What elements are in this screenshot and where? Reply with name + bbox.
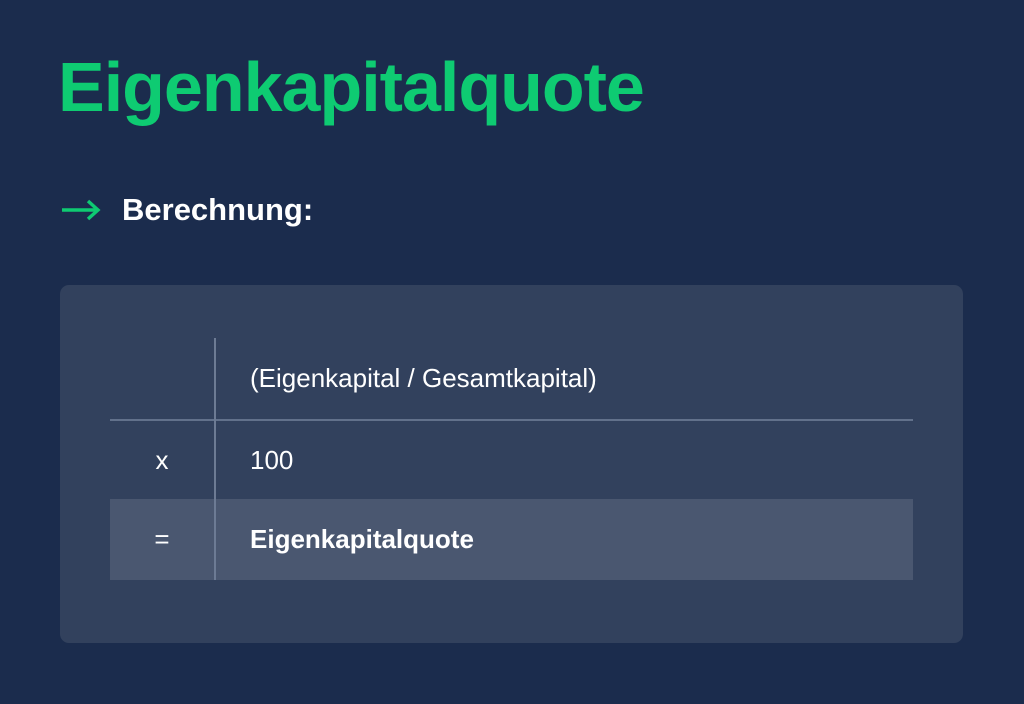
subtitle-label: Berechnung: bbox=[122, 192, 313, 228]
formula-card: (Eigenkapital / Gesamtkapital) x 100 = E… bbox=[60, 285, 963, 643]
arrow-right-icon bbox=[60, 197, 104, 223]
subtitle-row: Berechnung: bbox=[60, 192, 313, 228]
formula-table: (Eigenkapital / Gesamtkapital) x 100 = E… bbox=[110, 338, 913, 580]
row-operator: x bbox=[110, 445, 214, 476]
row-operator: = bbox=[110, 524, 214, 555]
table-row: x 100 bbox=[110, 419, 913, 499]
table-row: (Eigenkapital / Gesamtkapital) bbox=[110, 338, 913, 419]
row-value: 100 bbox=[214, 445, 913, 476]
page-title: Eigenkapitalquote bbox=[58, 52, 644, 122]
slide-root: Eigenkapitalquote Berechnung: (Eigenkapi… bbox=[0, 0, 1024, 704]
row-value: (Eigenkapital / Gesamtkapital) bbox=[214, 363, 913, 394]
table-row-result: = Eigenkapitalquote bbox=[110, 499, 913, 580]
row-value: Eigenkapitalquote bbox=[214, 524, 913, 555]
